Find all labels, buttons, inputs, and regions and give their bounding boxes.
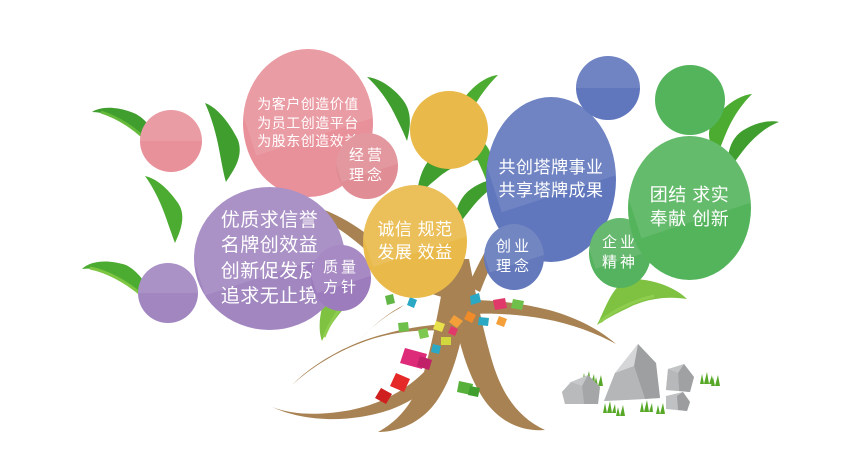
rock-cluster (562, 344, 720, 416)
bubble-core-values-body[interactable]: 诚信 规范 发展 效益 (363, 185, 467, 298)
bubble-line: 名牌创效益 (221, 233, 319, 258)
bubble-vision-label[interactable]: 创业 理念 (484, 224, 544, 290)
bubble-line: 精神 (602, 253, 638, 273)
leaf-top-pink (205, 103, 240, 182)
bubble-line: 理念 (349, 166, 385, 186)
bubble-line: 优质求信誉 (221, 208, 319, 233)
bubble-line: 诚信 规范 (377, 219, 452, 241)
bubble-line: 追求无止境 (221, 284, 319, 309)
bubble-line: 共享塔牌成果 (499, 180, 604, 202)
bubble-line: 为员工创造平台 (257, 114, 359, 132)
leaf-cluster-top-left (92, 108, 163, 158)
bubble-line: 奉献 创新 (650, 208, 730, 232)
bubble-management-philosophy-label[interactable]: 经营 理念 (336, 133, 398, 199)
infographic-canvas: 为客户创造价值 为员工创造平台 为股东创造效益 经营 理念 优质求信誉 名牌创效… (0, 0, 866, 471)
bubble-enterprise-spirit-body[interactable]: 团结 求实 奉献 创新 (628, 136, 751, 280)
bubble-quality-policy-label[interactable]: 质量 方针 (311, 245, 371, 311)
leaf-cluster-left-lower (82, 262, 155, 308)
bubble-line: 方针 (323, 278, 359, 298)
bubble-line: 质量 (323, 258, 359, 278)
bubble-line: 发展 效益 (377, 242, 452, 264)
bubble-line: 理念 (496, 257, 532, 277)
bubble-line: 为客户创造价值 (257, 95, 359, 113)
bubble-line: 创业 (496, 237, 532, 257)
bubble-line: 共创塔牌事业 (499, 157, 604, 179)
bubble-line: 经营 (349, 146, 385, 166)
bubble-line: 团结 求实 (650, 184, 730, 208)
leaf-mid-left (145, 176, 182, 243)
